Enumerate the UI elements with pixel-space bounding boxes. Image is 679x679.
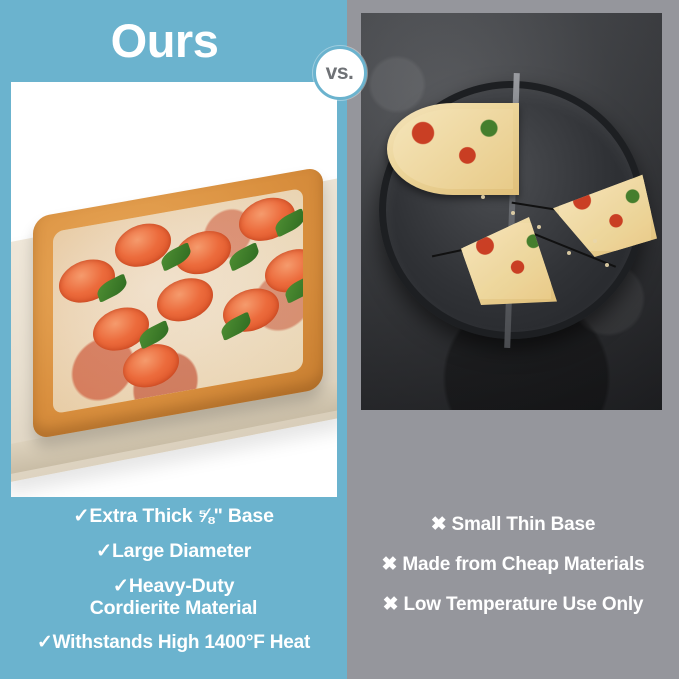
pizza-slice-topping bbox=[393, 109, 513, 189]
check-icon: ✓ bbox=[73, 505, 89, 527]
list-item-label: Made from Cheap Materials bbox=[402, 554, 644, 575]
crumb bbox=[593, 239, 597, 243]
cross-icon: ✖ bbox=[383, 594, 399, 615]
list-item-label: Extra Thick ⅝" Base bbox=[89, 505, 273, 527]
list-item: ✓Withstands High 1400°F Heat bbox=[6, 632, 341, 654]
panel-ours: Ours bbox=[0, 0, 347, 679]
pizza-surface bbox=[53, 188, 303, 414]
product-photo-ours bbox=[11, 82, 337, 497]
heading-ours: Ours bbox=[0, 14, 347, 68]
list-item: ✓Large Diameter bbox=[6, 540, 341, 563]
check-icon: ✓ bbox=[113, 575, 129, 597]
vs-badge: vs. bbox=[313, 46, 367, 100]
list-item-label: Low Temperature Use Only bbox=[404, 594, 644, 615]
vs-badge-label: vs. bbox=[326, 61, 354, 85]
panel-theirs: Theirs ✖ Small Thin Base ✖ Made from Che… bbox=[347, 0, 679, 679]
list-item-label: Small Thin Base bbox=[452, 514, 596, 535]
crumb bbox=[481, 195, 485, 199]
cross-icon: ✖ bbox=[382, 554, 398, 575]
product-photo-theirs bbox=[361, 13, 662, 410]
crumb bbox=[511, 211, 515, 215]
list-item: ✓Extra Thick ⅝" Base bbox=[6, 505, 341, 528]
benefits-list-ours: ✓Extra Thick ⅝" Base ✓Large Diameter ✓He… bbox=[0, 505, 347, 679]
crumb bbox=[567, 251, 571, 255]
list-item: ✖ Small Thin Base bbox=[353, 514, 673, 536]
list-item: ✖ Made from Cheap Materials bbox=[353, 554, 673, 576]
list-item: ✓Heavy-Duty Cordierite Material bbox=[6, 575, 341, 621]
list-item-label: Large Diameter bbox=[112, 540, 251, 562]
crumb bbox=[605, 263, 609, 267]
list-item: ✖ Low Temperature Use Only bbox=[353, 594, 673, 616]
pizza-slice bbox=[387, 103, 519, 195]
check-icon: ✓ bbox=[37, 632, 53, 653]
list-item-label: Withstands High 1400°F Heat bbox=[53, 632, 311, 653]
crumb bbox=[537, 225, 541, 229]
comparison-graphic: Ours bbox=[0, 0, 679, 679]
check-icon: ✓ bbox=[96, 540, 112, 562]
cross-icon: ✖ bbox=[431, 514, 447, 535]
drawbacks-list-theirs: ✖ Small Thin Base ✖ Made from Cheap Mate… bbox=[347, 508, 679, 679]
